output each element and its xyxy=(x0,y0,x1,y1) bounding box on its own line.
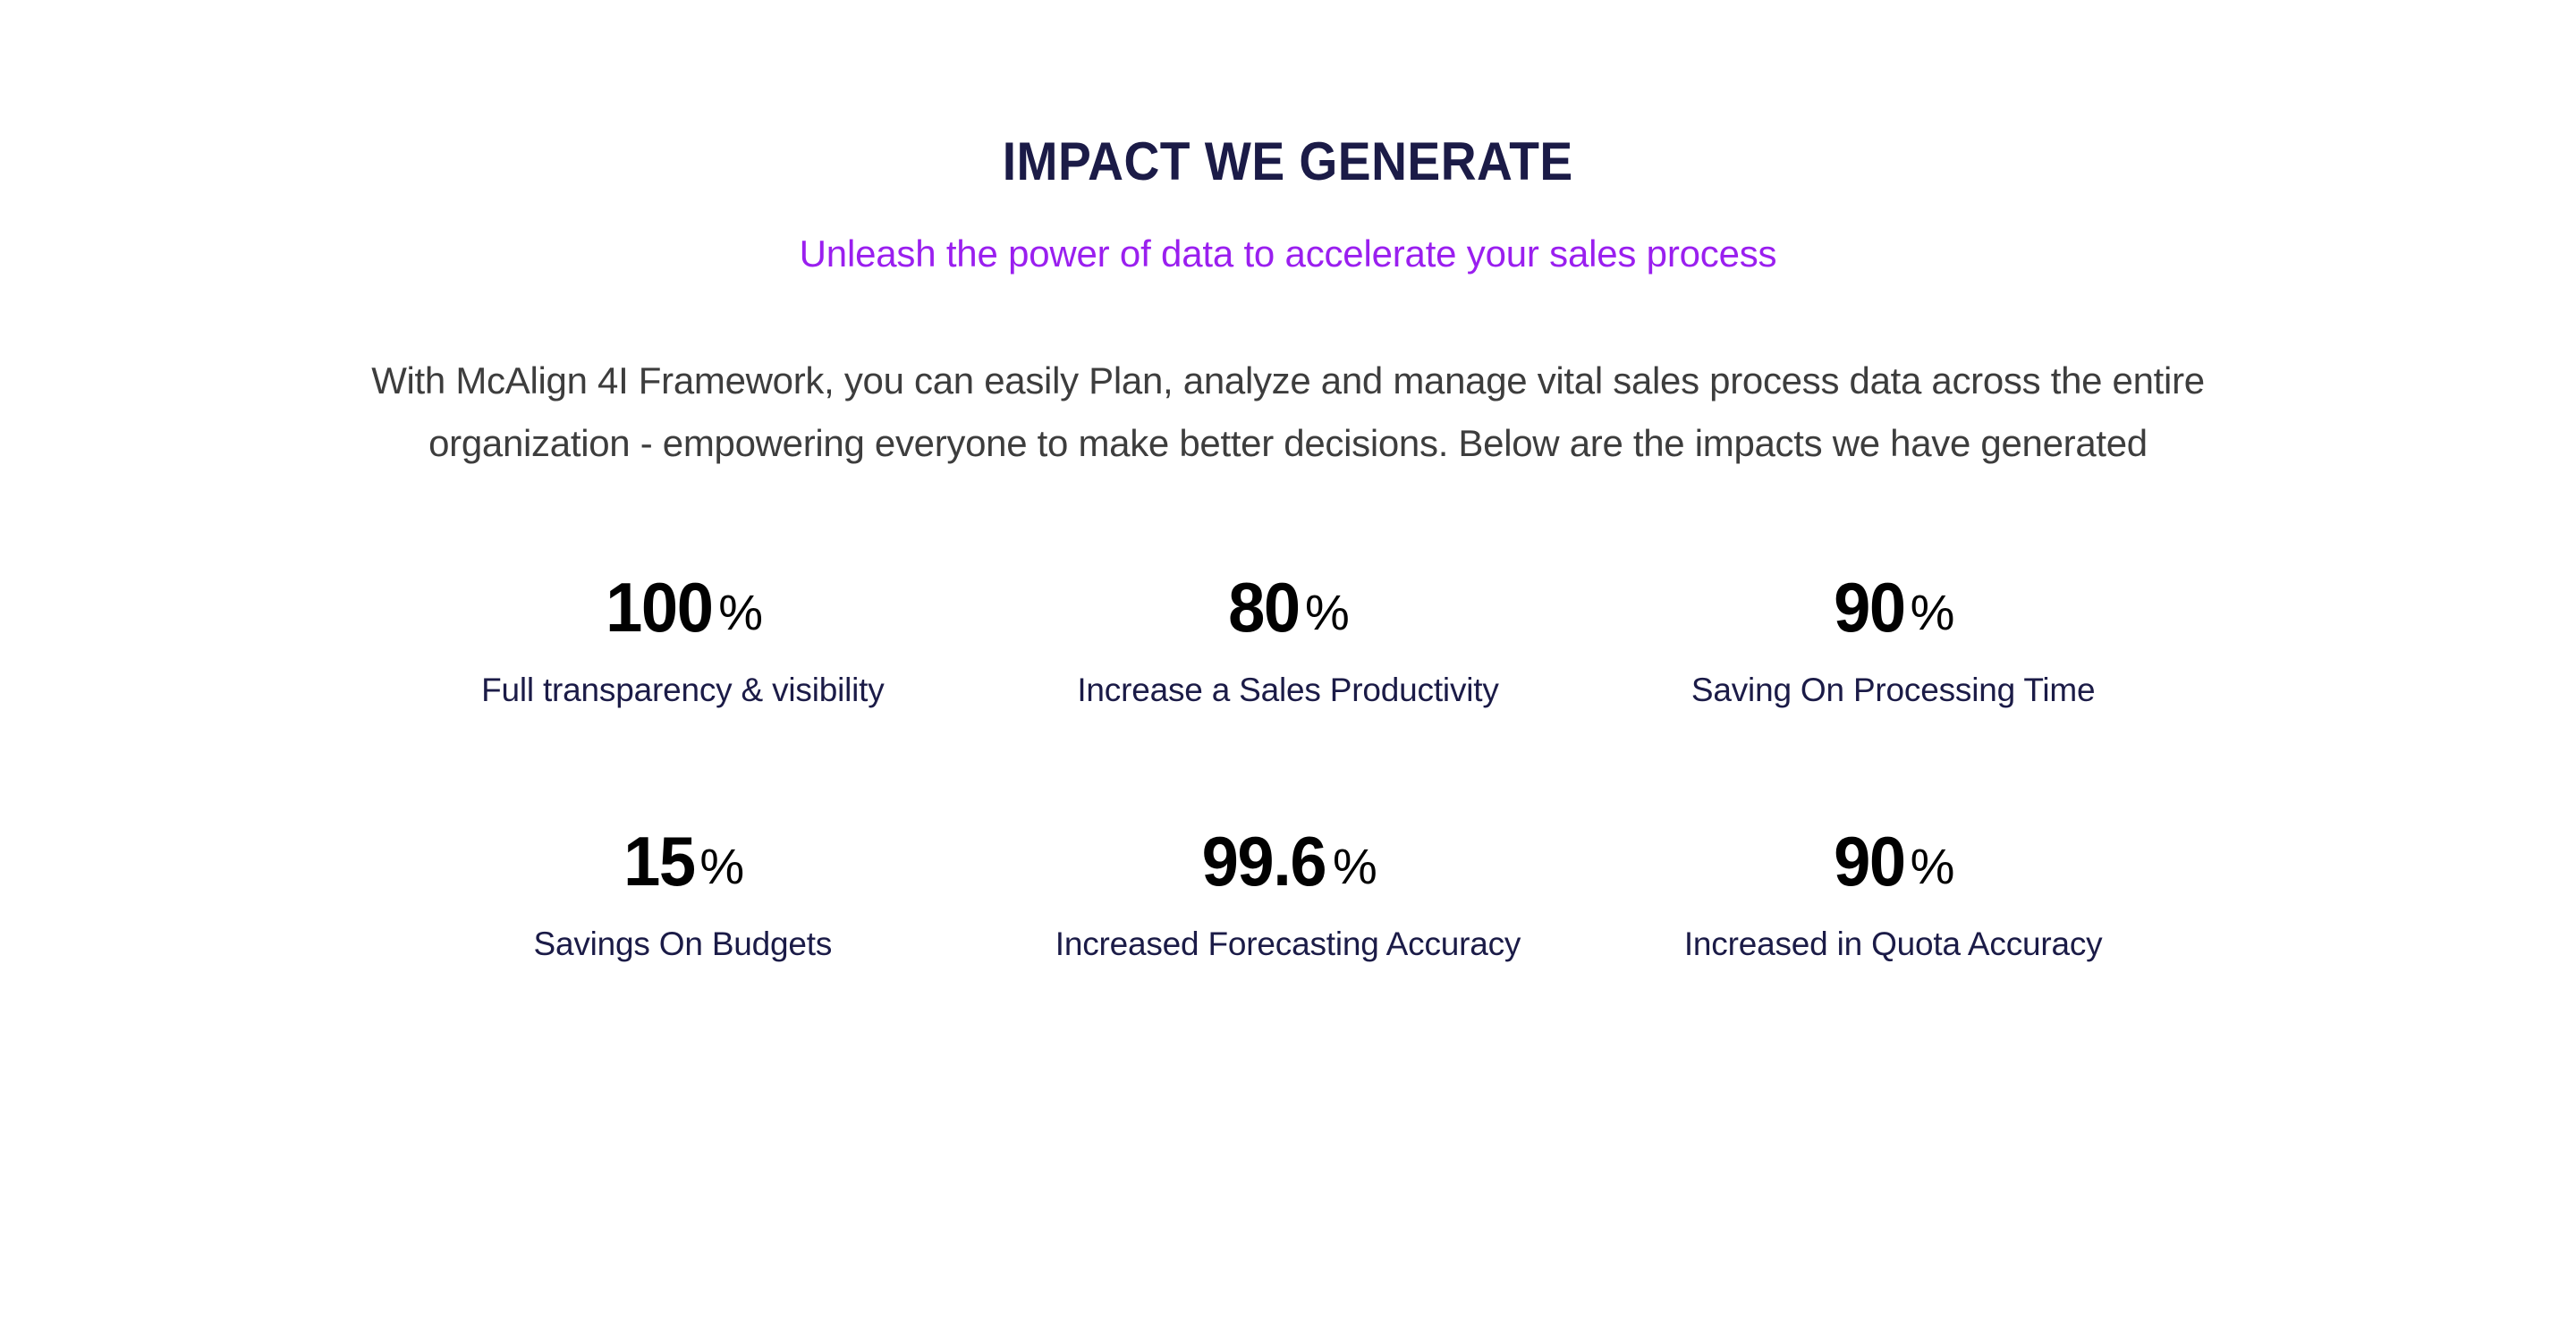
percent-symbol: % xyxy=(718,587,763,638)
stat-label: Saving On Processing Time xyxy=(1691,669,2096,712)
percent-symbol: % xyxy=(1911,587,1955,638)
stat-number: 99.6 xyxy=(1202,826,1326,896)
percent-symbol: % xyxy=(1305,587,1350,638)
section-description: With McAlign 4I Framework, you can easil… xyxy=(371,350,2205,476)
stat-number: 80 xyxy=(1228,572,1300,642)
stat-value: 100 % xyxy=(603,572,763,642)
stat-item: 80 % Increase a Sales Productivity xyxy=(986,572,1591,712)
impact-section: IMPACT WE GENERATE Unleash the power of … xyxy=(0,0,2576,1327)
stat-number: 90 xyxy=(1834,572,1905,642)
stat-label: Savings On Budgets xyxy=(533,923,832,966)
stat-item: 100 % Full transparency & visibility xyxy=(380,572,986,712)
stat-item: 15 % Savings On Budgets xyxy=(380,826,986,966)
stat-label: Increased Forecasting Accuracy xyxy=(1055,923,1521,966)
stat-value: 15 % xyxy=(622,826,745,896)
section-subtitle: Unleash the power of data to accelerate … xyxy=(800,231,1777,278)
percent-symbol: % xyxy=(1333,841,1377,892)
stat-value: 90 % xyxy=(1832,826,1955,896)
stat-item: 99.6 % Increased Forecasting Accuracy xyxy=(986,826,1591,966)
stat-item: 90 % Increased in Quota Accuracy xyxy=(1590,826,2196,966)
stat-item: 90 % Saving On Processing Time xyxy=(1590,572,2196,712)
stat-label: Increased in Quota Accuracy xyxy=(1684,923,2103,966)
stat-number: 90 xyxy=(1834,826,1905,896)
stat-value: 90 % xyxy=(1832,572,1955,642)
stat-label: Increase a Sales Productivity xyxy=(1077,669,1498,712)
stat-label: Full transparency & visibility xyxy=(481,669,884,712)
stat-value: 80 % xyxy=(1226,572,1350,642)
percent-symbol: % xyxy=(1911,841,1955,892)
stat-number: 100 xyxy=(606,572,712,642)
page-title: IMPACT WE GENERATE xyxy=(1003,132,1573,191)
stat-number: 15 xyxy=(623,826,695,896)
stat-value: 99.6 % xyxy=(1199,826,1377,896)
percent-symbol: % xyxy=(699,841,744,892)
stats-grid: 100 % Full transparency & visibility 80 … xyxy=(380,572,2196,966)
